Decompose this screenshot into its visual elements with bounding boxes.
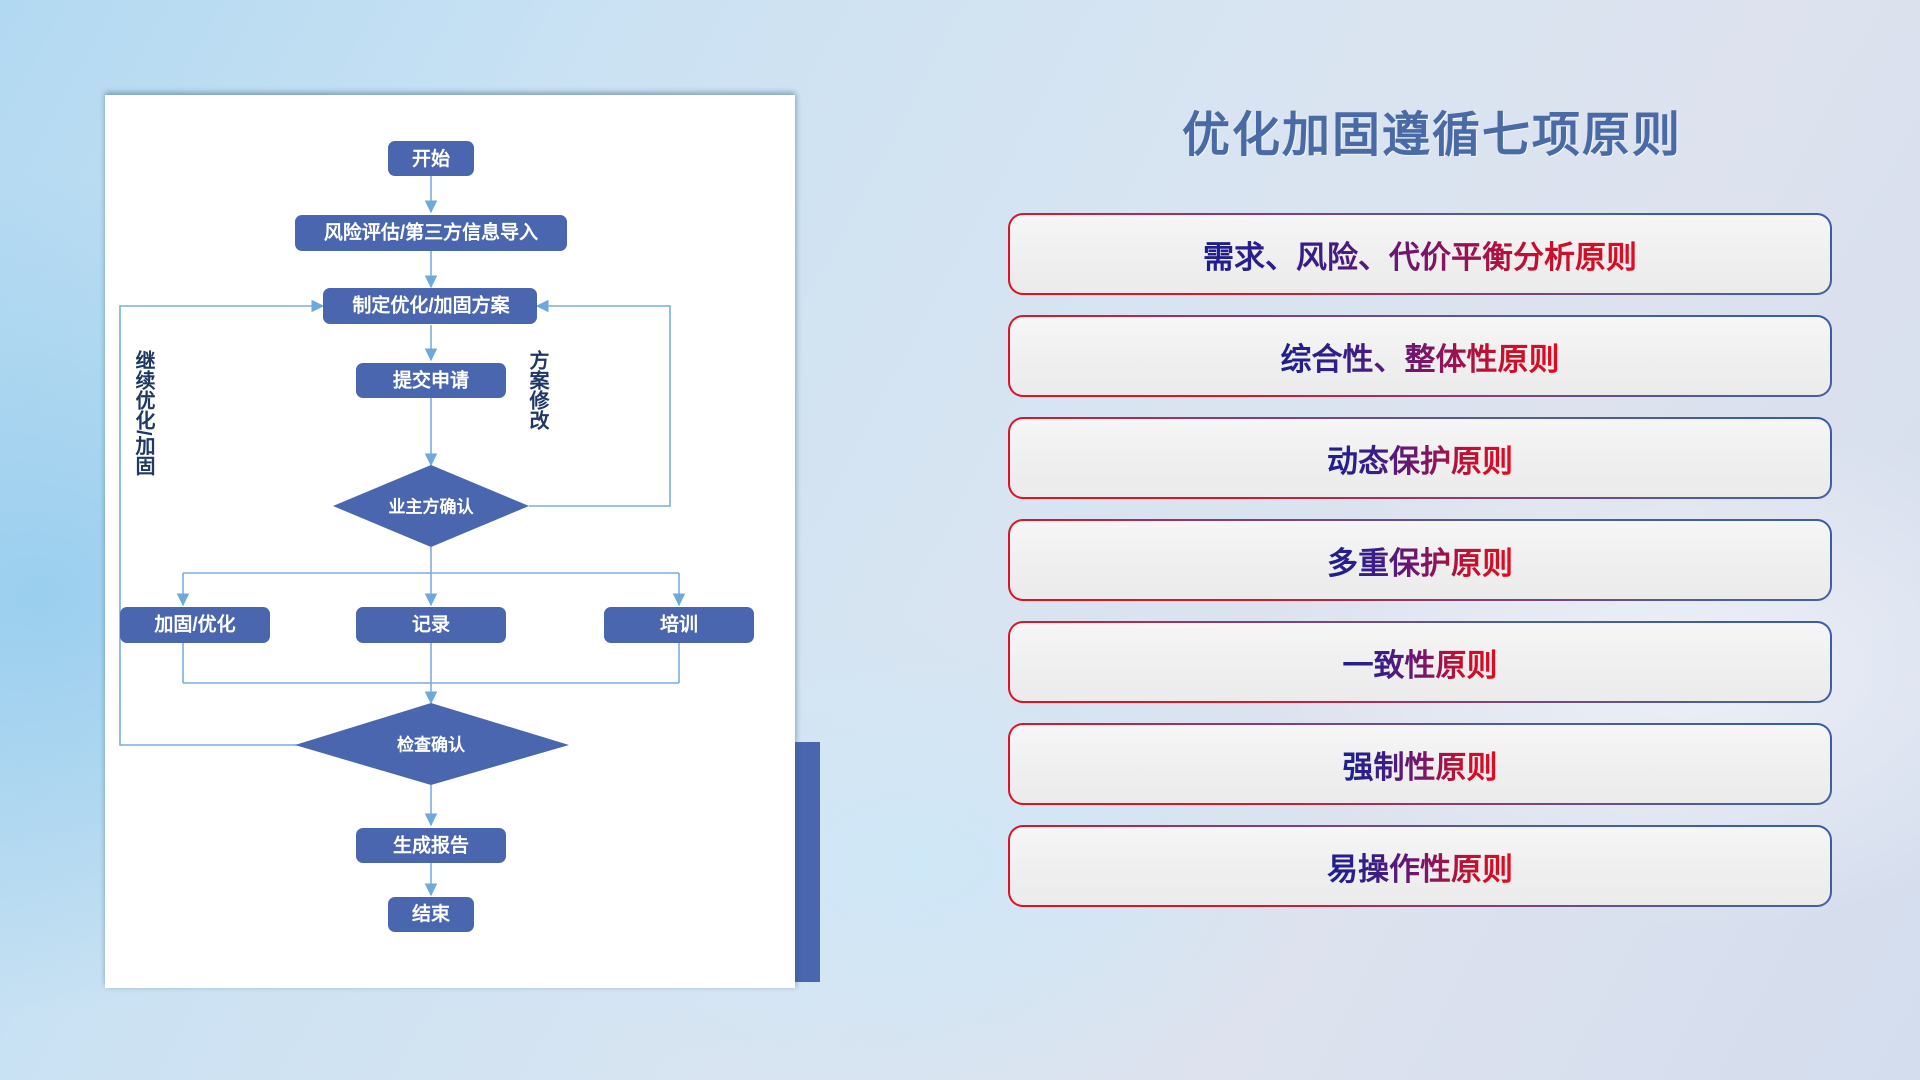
flowchart-graphic: 开始 风险评估/第三方信息导入 制定优化/加固方案 提交申请 业主方确认 xyxy=(105,95,795,988)
flow-node-record[interactable]: 记录 xyxy=(356,607,506,643)
flowchart-card: 开始 风险评估/第三方信息导入 制定优化/加固方案 提交申请 业主方确认 xyxy=(105,95,795,988)
principle-label: 易操作性原则 xyxy=(1327,844,1513,889)
principle-label: 综合性、整体性原则 xyxy=(1281,334,1560,379)
principle-item[interactable]: 易操作性原则 xyxy=(1010,827,1830,905)
principle-item[interactable]: 动态保护原则 xyxy=(1010,419,1830,497)
flowchart-nodes: 开始 风险评估/第三方信息导入 制定优化/加固方案 提交申请 业主方确认 xyxy=(120,141,754,932)
flow-node-owner-confirmation[interactable]: 业主方确认 xyxy=(333,465,529,547)
flow-node-inspection[interactable]: 检查确认 xyxy=(295,703,569,785)
flow-node-reinforce[interactable]: 加固/优化 xyxy=(120,607,270,643)
principle-label: 一致性原则 xyxy=(1343,640,1498,685)
principle-label: 动态保护原则 xyxy=(1327,436,1513,481)
principle-item[interactable]: 综合性、整体性原则 xyxy=(1010,317,1830,395)
flow-node-generate-report[interactable]: 生成报告 xyxy=(356,828,506,863)
principles-panel: 优化加固遵循七项原则 需求、风险、代价平衡分析原则 综合性、整体性原则 动态保护… xyxy=(1010,95,1830,995)
flow-node-risk-assessment[interactable]: 风险评估/第三方信息导入 xyxy=(295,215,567,251)
principle-item[interactable]: 需求、风险、代价平衡分析原则 xyxy=(1010,215,1830,293)
edge-label-plan-revision: 方案修改 xyxy=(526,349,550,431)
flow-node-submit-application[interactable]: 提交申请 xyxy=(356,363,506,398)
flow-node-start[interactable]: 开始 xyxy=(388,141,474,176)
principles-list: 需求、风险、代价平衡分析原则 综合性、整体性原则 动态保护原则 多重保护原则 一… xyxy=(1010,215,1830,905)
slide-canvas: 开始 风险评估/第三方信息导入 制定优化/加固方案 提交申请 业主方确认 xyxy=(0,0,1920,1080)
principle-label: 多重保护原则 xyxy=(1327,538,1513,583)
flow-node-end[interactable]: 结束 xyxy=(388,897,474,932)
flow-node-plan[interactable]: 制定优化/加固方案 xyxy=(323,288,537,324)
principle-item[interactable]: 一致性原则 xyxy=(1010,623,1830,701)
principle-label: 强制性原则 xyxy=(1343,742,1498,787)
principle-item[interactable]: 强制性原则 xyxy=(1010,725,1830,803)
principle-item[interactable]: 多重保护原则 xyxy=(1010,521,1830,599)
flow-node-training[interactable]: 培训 xyxy=(604,607,754,643)
panel-title: 优化加固遵循七项原则 xyxy=(1010,95,1830,165)
flowchart-connectors xyxy=(120,176,679,895)
edge-label-continue-optimize: 继续优化/加固 xyxy=(132,349,156,476)
principle-label: 需求、风险、代价平衡分析原则 xyxy=(1203,232,1637,277)
